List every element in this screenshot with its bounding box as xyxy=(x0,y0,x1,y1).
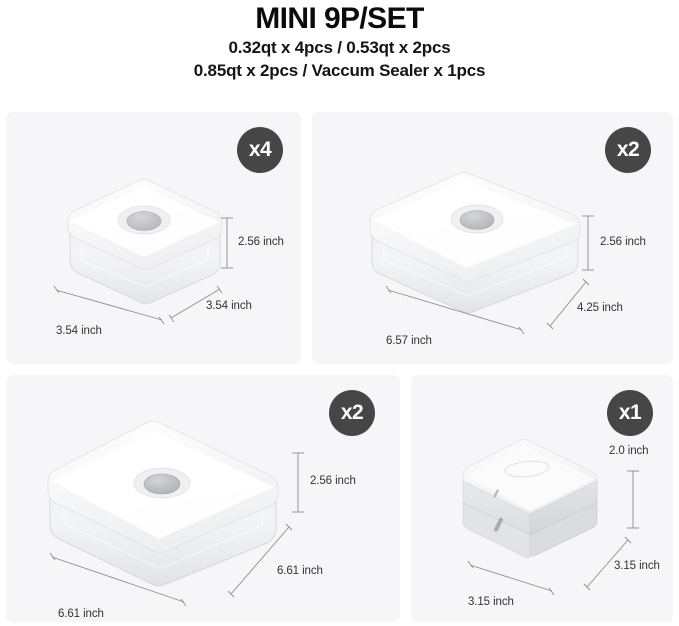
product-image-vacuum-sealer xyxy=(451,433,611,563)
product-panel-grid: x4 xyxy=(6,112,673,622)
subtitle-line-1: 0.32qt x 4pcs / 0.53qt x 2pcs xyxy=(0,36,679,59)
dimension-depth-label-panel-1: 3.54 inch xyxy=(206,300,252,312)
quantity-badge-x1: x1 xyxy=(607,390,653,436)
page-title: MINI 9P/SET xyxy=(0,2,679,36)
subtitle-line-2: 0.85qt x 2pcs / Vaccum Sealer x 1pcs xyxy=(0,59,679,82)
product-image-large-square-container xyxy=(36,413,296,588)
panel-rectangular-container: x2 xyxy=(312,112,673,364)
product-spec-infographic: MINI 9P/SET 0.32qt x 4pcs / 0.53qt x 2pc… xyxy=(0,0,679,626)
panel-row-bottom: x2 xyxy=(6,375,673,622)
dimension-depth-label-panel-3: 6.61 inch xyxy=(277,565,323,577)
quantity-badge-x4: x4 xyxy=(237,127,283,173)
panel-vacuum-sealer: x1 xyxy=(411,375,673,622)
quantity-badge-x2-rect: x2 xyxy=(605,127,651,173)
product-image-small-square-container xyxy=(54,167,234,317)
dimension-height-label-panel-4: 2.0 inch xyxy=(609,445,648,457)
header: MINI 9P/SET 0.32qt x 4pcs / 0.53qt x 2pc… xyxy=(0,0,679,82)
dimension-width-label-panel-1: 3.54 inch xyxy=(56,325,102,337)
product-image-rectangular-container xyxy=(360,162,590,317)
panel-large-square-container: x2 xyxy=(6,375,400,622)
panel-row-top: x4 xyxy=(6,112,673,364)
dimension-height-label-panel-2: 2.56 inch xyxy=(600,236,646,248)
dimension-height-label-panel-3: 2.56 inch xyxy=(310,475,356,487)
dimension-height-label-panel-1: 2.56 inch xyxy=(238,236,284,248)
dimension-width-label-panel-2: 6.57 inch xyxy=(386,335,432,347)
panel-small-square-container: x4 xyxy=(6,112,301,364)
quantity-badge-x2-large: x2 xyxy=(329,390,375,436)
dimension-width-label-panel-4: 3.15 inch xyxy=(468,596,514,608)
dimension-width-label-panel-3: 6.61 inch xyxy=(58,608,104,620)
dimension-depth-label-panel-2: 4.25 inch xyxy=(577,302,623,314)
dimension-depth-label-panel-4: 3.15 inch xyxy=(614,560,660,572)
